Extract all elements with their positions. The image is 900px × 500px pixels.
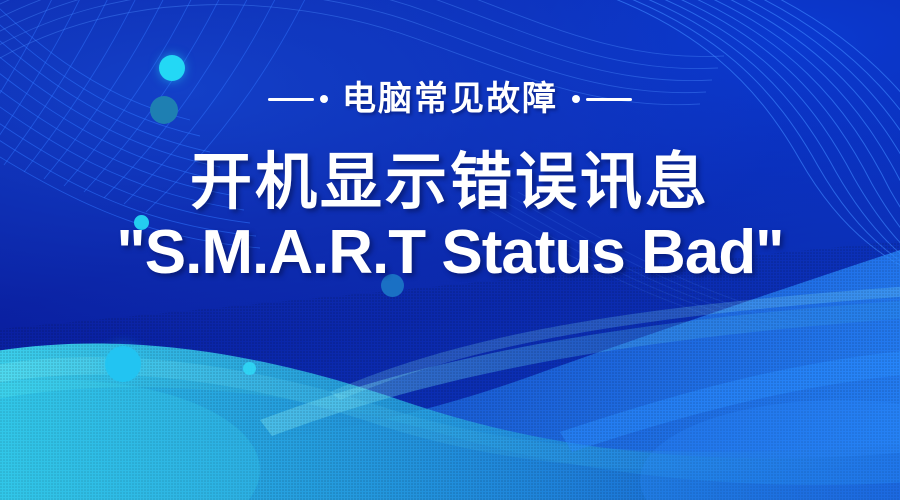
headline-line-2: "S.M.A.R.T Status Bad" (116, 220, 783, 286)
ornament-dot-icon (320, 95, 328, 103)
ornament-line-icon (586, 98, 632, 101)
eyebrow-label: 电脑常见故障 (342, 82, 558, 116)
right-ornament (572, 95, 632, 103)
left-ornament (268, 95, 328, 103)
banner: 电脑常见故障 开机显示错误讯息 "S.M.A.R.T Status Bad" (0, 0, 900, 500)
ornament-line-icon (268, 98, 314, 101)
headline-line-1: 开机显示错误讯息 (116, 150, 783, 216)
eyebrow-row: 电脑常见故障 (268, 82, 632, 116)
page-title: 开机显示错误讯息 "S.M.A.R.T Status Bad" (116, 150, 783, 285)
banner-content: 电脑常见故障 开机显示错误讯息 "S.M.A.R.T Status Bad" (0, 0, 900, 500)
ornament-dot-icon (572, 95, 580, 103)
